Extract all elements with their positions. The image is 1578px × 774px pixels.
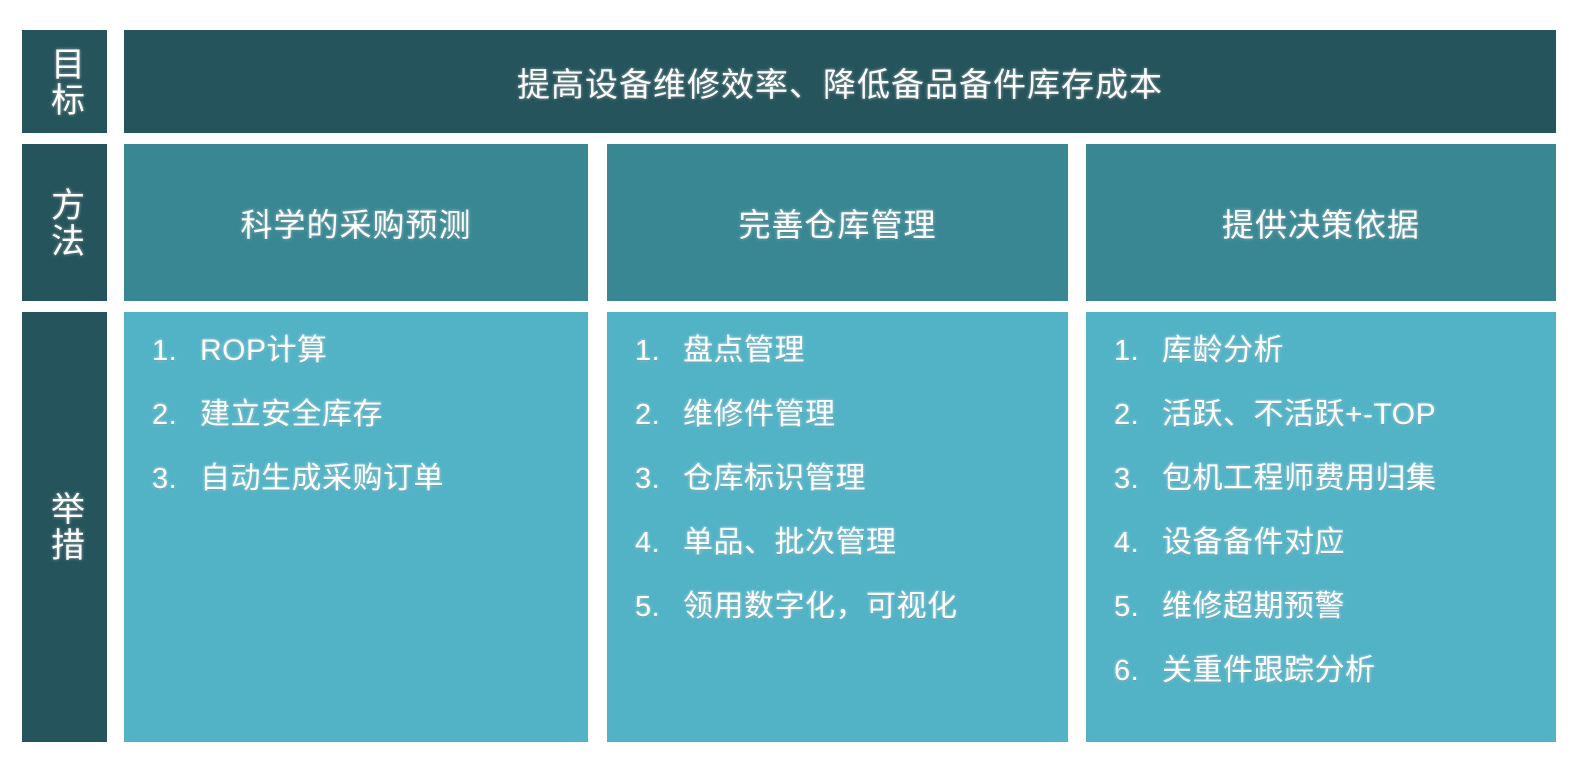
- list-item-label: 维修件管理: [683, 400, 836, 430]
- measure-card-2: 1.盘点管理2.维修件管理3.仓库标识管理4.单品、批次管理5.领用数字化，可视…: [607, 312, 1068, 742]
- measure-card-3: 1.库龄分析2.活跃、不活跃+-TOP3.包机工程师费用归集4.设备备件对应5.…: [1086, 312, 1556, 742]
- measure-list-2: 1.盘点管理2.维修件管理3.仓库标识管理4.单品、批次管理5.领用数字化，可视…: [635, 336, 1052, 656]
- list-item-number: 1.: [635, 337, 683, 366]
- list-item: 3.自动生成采购订单: [152, 464, 572, 528]
- list-item-number: 4.: [635, 529, 683, 558]
- measure-list-3: 1.库龄分析2.活跃、不活跃+-TOP3.包机工程师费用归集4.设备备件对应5.…: [1114, 336, 1540, 720]
- list-item: 3.包机工程师费用归集: [1114, 464, 1540, 528]
- list-item-label: 盘点管理: [683, 336, 805, 366]
- list-item-number: 2.: [152, 401, 200, 430]
- measure-card-1: 1.ROP计算2.建立安全库存3.自动生成采购订单: [124, 312, 588, 742]
- list-item-number: 6.: [1114, 657, 1162, 686]
- list-item-label: 仓库标识管理: [683, 464, 866, 494]
- list-item: 5.领用数字化，可视化: [635, 592, 1052, 656]
- method-card-3-title: 提供决策依据: [1222, 200, 1420, 246]
- list-item-label: 维修超期预警: [1162, 592, 1345, 622]
- list-item-label: 活跃、不活跃+-TOP: [1162, 400, 1436, 430]
- row-label-method: 方法: [22, 144, 107, 301]
- list-item: 3.仓库标识管理: [635, 464, 1052, 528]
- list-item-label: 包机工程师费用归集: [1162, 464, 1437, 494]
- list-item-number: 2.: [635, 401, 683, 430]
- list-item-label: 单品、批次管理: [683, 528, 897, 558]
- row-label-goal: 目标: [22, 30, 107, 133]
- row-label-measure: 举措: [22, 312, 107, 742]
- slide-canvas: 目标 提高设备维修效率、降低备品备件库存成本 方法 科学的采购预测 完善仓库管理…: [0, 0, 1578, 774]
- list-item-label: 建立安全库存: [200, 400, 383, 430]
- list-item-number: 4.: [1114, 529, 1162, 558]
- list-item-label: 库龄分析: [1162, 336, 1284, 366]
- list-item: 1.盘点管理: [635, 336, 1052, 400]
- method-card-2-title: 完善仓库管理: [738, 200, 936, 246]
- row-label-method-text: 方法: [44, 187, 84, 259]
- goal-banner-text: 提高设备维修效率、降低备品备件库存成本: [517, 58, 1163, 106]
- list-item-number: 5.: [635, 593, 683, 622]
- method-card-1-title: 科学的采购预测: [240, 200, 471, 246]
- measure-list-1: 1.ROP计算2.建立安全库存3.自动生成采购订单: [152, 336, 572, 528]
- list-item: 6.关重件跟踪分析: [1114, 656, 1540, 720]
- list-item-label: 设备备件对应: [1162, 528, 1345, 558]
- list-item-number: 1.: [1114, 337, 1162, 366]
- goal-banner: 提高设备维修效率、降低备品备件库存成本: [124, 30, 1556, 133]
- list-item-label: 关重件跟踪分析: [1162, 656, 1376, 686]
- list-item: 4.单品、批次管理: [635, 528, 1052, 592]
- list-item: 1.库龄分析: [1114, 336, 1540, 400]
- list-item-label: ROP计算: [200, 336, 328, 366]
- list-item-number: 1.: [152, 337, 200, 366]
- list-item: 2.建立安全库存: [152, 400, 572, 464]
- method-card-1[interactable]: 科学的采购预测: [124, 144, 588, 301]
- list-item: 1.ROP计算: [152, 336, 572, 400]
- list-item-number: 3.: [1114, 465, 1162, 494]
- list-item-number: 5.: [1114, 593, 1162, 622]
- method-card-2[interactable]: 完善仓库管理: [607, 144, 1068, 301]
- list-item-number: 3.: [152, 465, 200, 494]
- list-item-label: 领用数字化，可视化: [683, 592, 958, 622]
- method-card-3[interactable]: 提供决策依据: [1086, 144, 1556, 301]
- list-item-label: 自动生成采购订单: [200, 464, 444, 494]
- list-item-number: 3.: [635, 465, 683, 494]
- list-item: 5.维修超期预警: [1114, 592, 1540, 656]
- list-item: 2.维修件管理: [635, 400, 1052, 464]
- row-label-goal-text: 目标: [44, 46, 84, 118]
- list-item: 2.活跃、不活跃+-TOP: [1114, 400, 1540, 464]
- row-label-measure-text: 举措: [44, 491, 84, 563]
- list-item: 4.设备备件对应: [1114, 528, 1540, 592]
- list-item-number: 2.: [1114, 401, 1162, 430]
